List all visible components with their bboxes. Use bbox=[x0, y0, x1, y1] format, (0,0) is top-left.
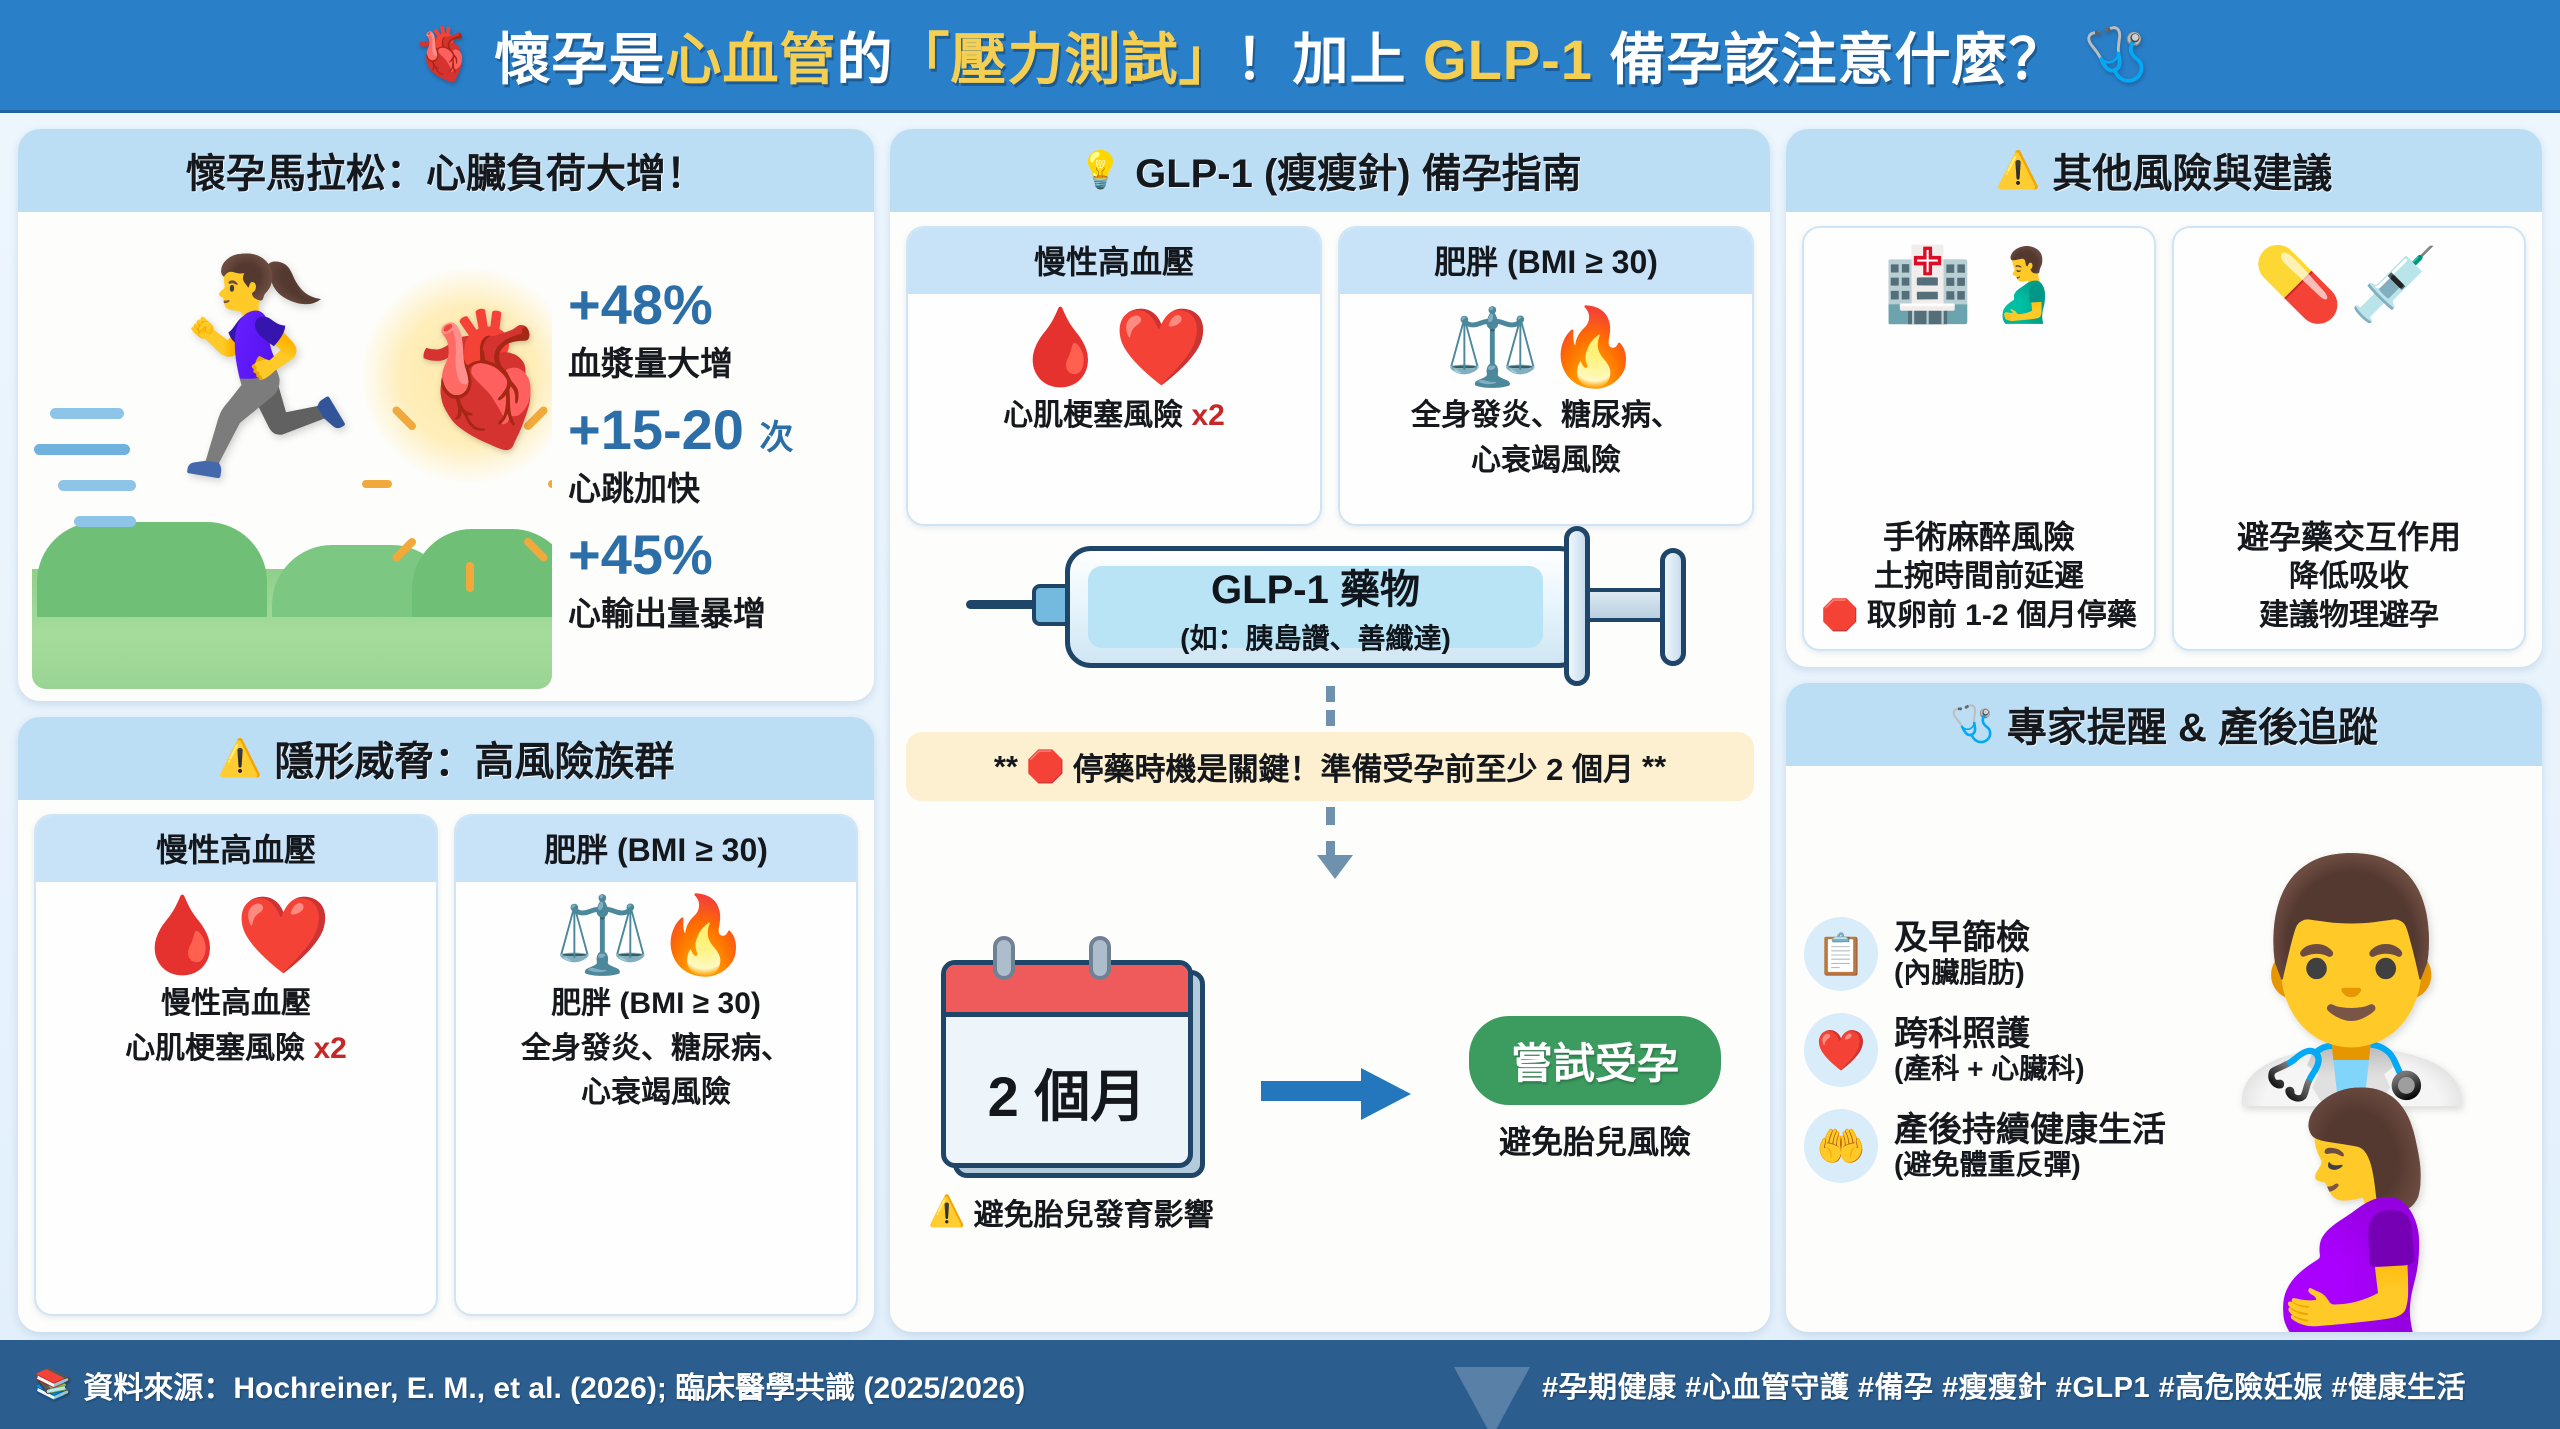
calendar-front-sheet: 2 個月 bbox=[941, 960, 1193, 1168]
stat-item: +15-20 次 心跳加快 bbox=[568, 401, 860, 510]
risk-card-header: 肥胖 (BMI ≥ 30) bbox=[1340, 228, 1752, 294]
watermark-shape bbox=[1454, 1367, 1530, 1429]
panel-other-risks: ⚠️ 其他風險與建議 🏥🫃 手術麻醉風險 土捥時間前延遲 🛑 取卵前 1-2 個… bbox=[1786, 129, 2542, 667]
panel-expert-advice: 🩺 專家提醒 & 產後追蹤 📋 及早篩檢 (內臟脂肪) bbox=[1786, 683, 2542, 1332]
infographic-page: 🫀 懷孕是心血管的「壓力測試」！加上 GLP-1 備孕該注意什麼？ 🩺 懷孕馬拉… bbox=[0, 0, 2560, 1429]
risk-card-contraceptive: 💊💉 避孕藥交互作用 降低吸收 建議物理避孕 bbox=[2172, 226, 2526, 651]
other-risks-card-row: 🏥🫃 手術麻醉風險 土捥時間前延遲 🛑 取卵前 1-2 個月停藥 💊💉 bbox=[1802, 226, 2526, 651]
advice-text-group: 跨科照護 (產科 + 心臟科) bbox=[1894, 1015, 2085, 1085]
panel-threat-header: ⚠️ 隱形威脅：高風險族群 bbox=[18, 717, 874, 800]
stop-timing-banner: ** 🛑 停藥時機是關鍵！準備受孕前至少 2 個月 ** bbox=[906, 732, 1754, 801]
right-arrow-icon bbox=[1261, 1077, 1411, 1103]
risk-card-line: 心衰竭風險 bbox=[581, 1074, 731, 1112]
advice-item-multidisciplinary: ❤️ 跨科照護 (產科 + 心臟科) bbox=[1804, 1013, 2198, 1087]
risk-card-title: 肥胖 (BMI ≥ 30) bbox=[1434, 244, 1658, 280]
risk-card-body: ⚖️🔥 肥胖 (BMI ≥ 30) 全身發炎、糖尿病、 心衰竭風險 bbox=[456, 882, 856, 1314]
threat-card-row: 慢性高血壓 🩸❤️ 慢性高血壓 心肌梗塞風險 x2 肥胖 (BMI ≥ 30) bbox=[34, 814, 858, 1316]
stethoscope-icon: 🩺 bbox=[1950, 706, 1995, 742]
advice-subtitle: (產科 + 心臟科) bbox=[1894, 1053, 2085, 1085]
syringe-thumb-rest bbox=[1660, 548, 1686, 666]
glp1-risk-card-obesity: 肥胖 (BMI ≥ 30) ⚖️🔥 全身發炎、糖尿病、 心衰竭風險 bbox=[1338, 226, 1754, 526]
risk-badge: x2 bbox=[1191, 399, 1224, 432]
expert-content: 📋 及早篩檢 (內臟脂肪) ❤️ 跨科照護 (產科 + 心臟 bbox=[1798, 776, 2530, 1324]
stat-caption: 血漿量大增 bbox=[568, 337, 860, 385]
content-area: 懷孕馬拉松：心臟負荷大增！ 🏃‍♀️ bbox=[0, 113, 2560, 1340]
title-seg-7: 備孕該注意什麼？ bbox=[1593, 28, 2066, 91]
blood-pressure-cuff-and-heart-icon: 🩸❤️ bbox=[135, 892, 336, 979]
risk-card-body: 🩸❤️ 慢性高血壓 心肌梗塞風險 x2 bbox=[36, 882, 436, 1314]
syringe-flange bbox=[1564, 526, 1590, 686]
risk-card-surgery: 🏥🫃 手術麻醉風險 土捥時間前延遲 🛑 取卵前 1-2 個月停藥 bbox=[1802, 226, 2156, 651]
goal-pill: 嘗試受孕 bbox=[1469, 1016, 1721, 1105]
stat-value: +48% bbox=[568, 276, 860, 335]
risk-card-body: 💊💉 避孕藥交互作用 降低吸收 建議物理避孕 bbox=[2174, 228, 2524, 649]
advice-item-postpartum: 🤲 產後持續健康生活 (避免體重反彈) bbox=[1804, 1109, 2198, 1183]
pills-syringe-icon: 💊💉 bbox=[2253, 244, 2444, 327]
risk-card-line: 土捥時間前延遲 bbox=[1821, 558, 2137, 596]
advice-text-group: 及早篩檢 (內臟脂肪) bbox=[1894, 919, 2030, 989]
glp1-card-row: 慢性高血壓 🩸❤️ 心肌梗塞風險 x2 肥胖 (BMI ≥ 30) bbox=[906, 226, 1754, 526]
marathon-stats: +48% 血漿量大增 +15-20 次 心跳加快 +45% 心輸出量暴增 bbox=[552, 222, 860, 689]
risk-card-title: 慢性高血壓 bbox=[156, 832, 316, 868]
risk-card-line: 慢性高血壓 bbox=[161, 985, 311, 1023]
calendar-note: ⚠️ 避免胎兒發育影響 bbox=[928, 1190, 1213, 1234]
risk-card-title: 避孕藥交互作用 bbox=[2237, 517, 2461, 558]
conception-goal-block: 嘗試受孕 避免胎兒風險 bbox=[1436, 1016, 1754, 1163]
title-seg-3: 的 bbox=[836, 28, 893, 91]
calendar-top-band bbox=[946, 965, 1188, 1017]
weight-scale-and-flame-icon: ⚖️🔥 bbox=[1445, 304, 1646, 391]
panel-threat-title: 隱形威脅：高風險族群 bbox=[274, 729, 674, 787]
stop-sign-icon: 🛑 bbox=[1026, 748, 1065, 785]
syringe-label-area: GLP-1 藥物 (如：胰島讚、善纖達) bbox=[1088, 566, 1543, 648]
panel-marathon-body: 🏃‍♀️ bbox=[18, 212, 874, 701]
syringe-label: GLP-1 藥物 bbox=[1211, 557, 1420, 615]
anatomical-heart-icon: 🫀 bbox=[404, 314, 552, 444]
risk-card-text-group: 避孕藥交互作用 降低吸收 建議物理避孕 bbox=[2237, 517, 2461, 635]
risk-card-line: 肥胖 (BMI ≥ 30) bbox=[551, 985, 761, 1023]
timing-flow: 2 個月 ⚠️ 避免胎兒發育影響 bbox=[906, 859, 1754, 1316]
risk-card-line: 心肌梗塞風險 x2 bbox=[1003, 397, 1225, 435]
panel-other-risks-title: 其他風險與建議 bbox=[2052, 141, 2332, 199]
page-footer: 📚 資料來源：Hochreiner, E. M., et al. (2026);… bbox=[0, 1340, 2560, 1429]
clipboard-magnifier-icon: 📋 bbox=[1804, 917, 1878, 991]
stat-unit: 次 bbox=[760, 419, 794, 457]
risk-card-header: 肥胖 (BMI ≥ 30) bbox=[456, 816, 856, 882]
stat-item: +48% 血漿量大增 bbox=[568, 276, 860, 385]
risk-card-title: 手術麻醉風險 bbox=[1821, 517, 2137, 558]
speed-line bbox=[34, 444, 130, 455]
title-seg-1: 懷孕是 bbox=[494, 28, 665, 91]
source-text: 資料來源：Hochreiner, E. M., et al. (2026); 臨… bbox=[83, 1363, 1025, 1407]
calendar-ring bbox=[993, 936, 1015, 980]
stop-sign-icon: 🛑 bbox=[1821, 599, 1858, 632]
speed-line bbox=[50, 408, 124, 419]
panel-pregnancy-marathon: 懷孕馬拉松：心臟負荷大增！ 🏃‍♀️ bbox=[18, 129, 874, 701]
doctor-and-patient-illustration: 👨‍⚕️🤰 bbox=[2208, 776, 2530, 1324]
stat-value: +45% bbox=[568, 526, 860, 585]
calendar-block: 2 個月 ⚠️ 避免胎兒發育影響 bbox=[906, 946, 1236, 1234]
stethoscope-icon: 🩺 bbox=[2084, 29, 2149, 81]
bush-shape bbox=[37, 522, 267, 617]
warning-triangle-icon: ⚠️ bbox=[218, 740, 263, 776]
risk-card-body: 🏥🫃 手術麻醉風險 土捥時間前延遲 🛑 取卵前 1-2 個月停藥 bbox=[1804, 228, 2154, 649]
flow-arrow-block bbox=[1236, 1077, 1436, 1103]
advice-text-group: 產後持續健康生活 (避免體重反彈) bbox=[1894, 1111, 2166, 1181]
risk-card-line: 心肌梗塞風險 x2 bbox=[125, 1030, 347, 1068]
panel-expert-title: 專家提醒 & 產後追蹤 bbox=[2007, 695, 2378, 753]
panel-hidden-threat: ⚠️ 隱形威脅：高風險族群 慢性高血壓 🩸❤️ 慢性高血壓 心肌梗塞風險 x bbox=[18, 717, 874, 1332]
panel-glp1-guide: 💡 GLP-1 (瘦瘦針) 備孕指南 慢性高血壓 🩸❤️ 心肌梗塞風險 x2 bbox=[890, 129, 1770, 1332]
flow-connector-top bbox=[1326, 686, 1335, 726]
panel-other-risks-header: ⚠️ 其他風險與建議 bbox=[1786, 129, 2542, 212]
surgery-stomach-icon: 🏥🫃 bbox=[1883, 244, 2074, 327]
risk-card-body: 🩸❤️ 心肌梗塞風險 x2 bbox=[908, 294, 1320, 524]
stat-caption: 心跳加快 bbox=[568, 462, 860, 510]
books-icon: 📚 bbox=[34, 1367, 71, 1402]
risk-card-line: 全身發炎、糖尿病、 bbox=[1411, 397, 1681, 435]
risk-card-line: 心衰竭風險 bbox=[1471, 442, 1621, 480]
panel-glp1-title: GLP-1 (瘦瘦針) 備孕指南 bbox=[1135, 141, 1582, 199]
doctor-patient-icon: 👨‍⚕️🤰 bbox=[2208, 864, 2530, 1324]
calendar-illustration: 2 個月 bbox=[937, 946, 1205, 1178]
risk-card-line: 🛑 取卵前 1-2 個月停藥 bbox=[1821, 597, 2137, 635]
warning-triangle-icon: ⚠️ bbox=[928, 1194, 965, 1229]
heart-stethoscope-icon: ❤️ bbox=[1804, 1013, 1878, 1087]
left-column: 懷孕馬拉松：心臟負荷大增！ 🏃‍♀️ bbox=[18, 129, 874, 1332]
panel-expert-body: 📋 及早篩檢 (內臟脂肪) ❤️ 跨科照護 (產科 + 心臟 bbox=[1786, 766, 2542, 1332]
panel-marathon-header: 懷孕馬拉松：心臟負荷大增！ bbox=[18, 129, 874, 212]
flow-connector-bottom bbox=[1326, 807, 1335, 859]
blood-pressure-cuff-and-heart-icon: 🩸❤️ bbox=[1013, 304, 1214, 391]
stat-value: +15-20 次 bbox=[568, 401, 860, 460]
panel-threat-body: 慢性高血壓 🩸❤️ 慢性高血壓 心肌梗塞風險 x2 肥胖 (BMI ≥ 30) bbox=[18, 800, 874, 1332]
advice-title: 產後持續健康生活 bbox=[1894, 1111, 2166, 1149]
advice-subtitle: (內臟脂肪) bbox=[1894, 957, 2030, 989]
syringe-sublabel: (如：胰島讚、善纖達) bbox=[1180, 617, 1451, 657]
risk-card-line: 降低吸收 bbox=[2237, 558, 2461, 596]
risk-card-text-group: 手術麻醉風險 土捥時間前延遲 🛑 取卵前 1-2 個月停藥 bbox=[1821, 517, 2137, 635]
weight-scale-and-flame-icon: ⚖️🔥 bbox=[555, 892, 756, 979]
panel-glp1-header: 💡 GLP-1 (瘦瘦針) 備孕指南 bbox=[890, 129, 1770, 212]
risk-card-line: 建議物理避孕 bbox=[2237, 597, 2461, 635]
calendar-ring bbox=[1089, 936, 1111, 980]
risk-card-hypertension: 慢性高血壓 🩸❤️ 慢性高血壓 心肌梗塞風險 x2 bbox=[34, 814, 438, 1316]
warning-triangle-icon: ⚠️ bbox=[1996, 152, 2041, 188]
risk-card-line: 全身發炎、糖尿病、 bbox=[521, 1030, 791, 1068]
banner-prefix: ** bbox=[994, 749, 1018, 785]
advice-item-screening: 📋 及早篩檢 (內臟脂肪) bbox=[1804, 917, 2198, 991]
risk-card-title: 慢性高血壓 bbox=[1034, 244, 1194, 280]
panel-marathon-title: 懷孕馬拉松：心臟負荷大增！ bbox=[186, 141, 706, 199]
risk-card-header: 慢性高血壓 bbox=[908, 228, 1320, 294]
title-seg-5: ！加上 bbox=[1235, 28, 1423, 91]
advice-title: 跨科照護 bbox=[1894, 1015, 2085, 1053]
calendar-value: 2 個月 bbox=[946, 1017, 1188, 1168]
panel-other-risks-body: 🏥🫃 手術麻醉風險 土捥時間前延遲 🛑 取卵前 1-2 個月停藥 💊💉 bbox=[1786, 212, 2542, 667]
banner-suffix: ** bbox=[1642, 749, 1666, 785]
speed-line bbox=[74, 516, 136, 527]
runner-illustration: 🏃‍♀️ bbox=[32, 222, 552, 689]
risk-card-body: ⚖️🔥 全身發炎、糖尿病、 心衰竭風險 bbox=[1340, 294, 1752, 524]
panel-expert-header: 🩺 專家提醒 & 產後追蹤 bbox=[1786, 683, 2542, 766]
hashtag-list: #孕期健康 #心血管守護 #備孕 #瘦瘦針 #GLP1 #高危險妊娠 #健康生活 bbox=[1542, 1364, 2526, 1406]
page-title: 懷孕是心血管的「壓力測試」！加上 GLP-1 備孕該注意什麼？ bbox=[494, 15, 2065, 96]
source-citation: 📚 資料來源：Hochreiner, E. M., et al. (2026);… bbox=[34, 1363, 1025, 1407]
title-seg-4: 「壓力測試」 bbox=[893, 28, 1235, 91]
anatomical-heart-icon: 🫀 bbox=[412, 29, 477, 81]
advice-subtitle: (避免體重反彈) bbox=[1894, 1149, 2166, 1181]
stat-item: +45% 心輸出量暴增 bbox=[568, 526, 860, 635]
risk-badge: x2 bbox=[313, 1032, 346, 1065]
panel-glp1-body: 慢性高血壓 🩸❤️ 心肌梗塞風險 x2 肥胖 (BMI ≥ 30) bbox=[890, 212, 1770, 1332]
page-header: 🫀 懷孕是心血管的「壓力測試」！加上 GLP-1 備孕該注意什麼？ 🩺 bbox=[0, 0, 2560, 113]
advice-list: 📋 及早篩檢 (內臟脂肪) ❤️ 跨科照護 (產科 + 心臟 bbox=[1798, 776, 2198, 1324]
pregnant-runner-icon: 🏃‍♀️ bbox=[124, 264, 385, 474]
middle-column: 💡 GLP-1 (瘦瘦針) 備孕指南 慢性高血壓 🩸❤️ 心肌梗塞風險 x2 bbox=[890, 129, 1770, 1332]
glp1-risk-card-hypertension: 慢性高血壓 🩸❤️ 心肌梗塞風險 x2 bbox=[906, 226, 1322, 526]
title-seg-6: GLP-1 bbox=[1423, 28, 1593, 91]
banner-text: 停藥時機是關鍵！準備受孕前至少 2 個月 bbox=[1073, 744, 1634, 789]
risk-card-obesity: 肥胖 (BMI ≥ 30) ⚖️🔥 肥胖 (BMI ≥ 30) 全身發炎、糖尿病… bbox=[454, 814, 858, 1316]
marathon-hero: 🏃‍♀️ bbox=[32, 222, 860, 689]
risk-card-header: 慢性高血壓 bbox=[36, 816, 436, 882]
hand-holding-baby-icon: 🤲 bbox=[1804, 1109, 1878, 1183]
lightbulb-icon: 💡 bbox=[1078, 152, 1123, 188]
calendar-note-text: 避免胎兒發育影響 bbox=[974, 1190, 1214, 1234]
right-column: ⚠️ 其他風險與建議 🏥🫃 手術麻醉風險 土捥時間前延遲 🛑 取卵前 1-2 個… bbox=[1786, 129, 2542, 1332]
advice-title: 及早篩檢 bbox=[1894, 919, 2030, 957]
stat-caption: 心輸出量暴增 bbox=[568, 587, 860, 635]
syringe-illustration: GLP-1 藥物 (如：胰島讚、善纖達) bbox=[906, 532, 1754, 682]
title-seg-2: 心血管 bbox=[665, 28, 836, 91]
goal-caption: 避免胎兒風險 bbox=[1499, 1117, 1691, 1163]
risk-card-title: 肥胖 (BMI ≥ 30) bbox=[544, 832, 768, 868]
